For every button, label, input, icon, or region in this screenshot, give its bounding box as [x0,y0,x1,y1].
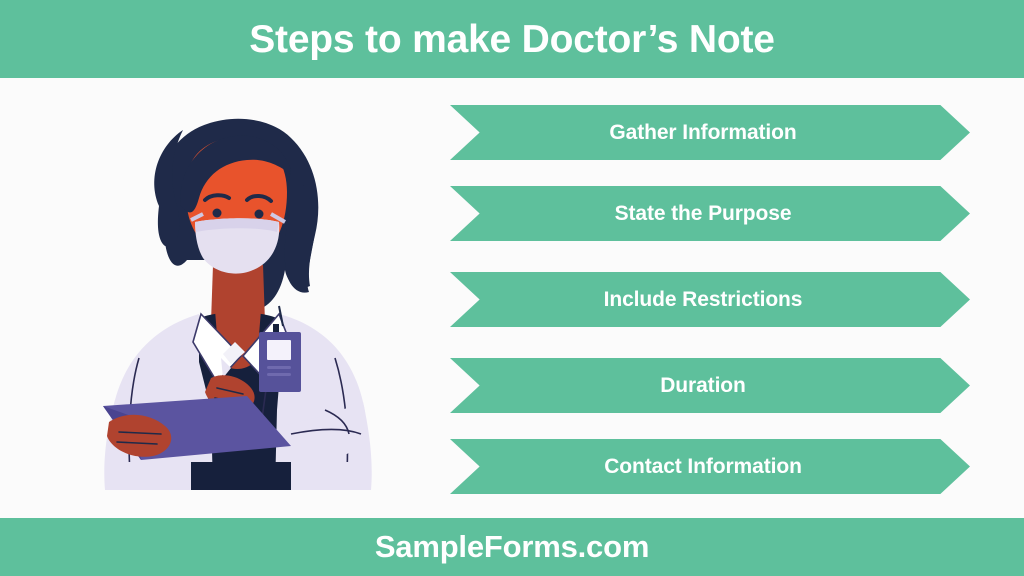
step-label: Duration [450,358,970,413]
step-banner-2[interactable]: State the Purpose [450,186,970,241]
step-banner-3[interactable]: Include Restrictions [450,272,970,327]
doctor-illustration [95,110,395,495]
step-banner-4[interactable]: Duration [450,358,970,413]
step-label: Contact Information [450,439,970,494]
step-label: State the Purpose [450,186,970,241]
brand-name: SampleForms.com [375,529,649,565]
steps-list: Gather Information State the Purpose Inc… [450,105,970,495]
header-band: Steps to make Doctor’s Note [0,0,1024,78]
infographic-poster: Steps to make Doctor’s Note [0,0,1024,576]
doctor-illustration-svg [95,110,395,495]
footer-band: SampleForms.com [0,518,1024,576]
step-label: Gather Information [450,105,970,160]
step-banner-1[interactable]: Gather Information [450,105,970,160]
page-title: Steps to make Doctor’s Note [249,20,775,59]
step-label: Include Restrictions [450,272,970,327]
step-banner-5[interactable]: Contact Information [450,439,970,494]
